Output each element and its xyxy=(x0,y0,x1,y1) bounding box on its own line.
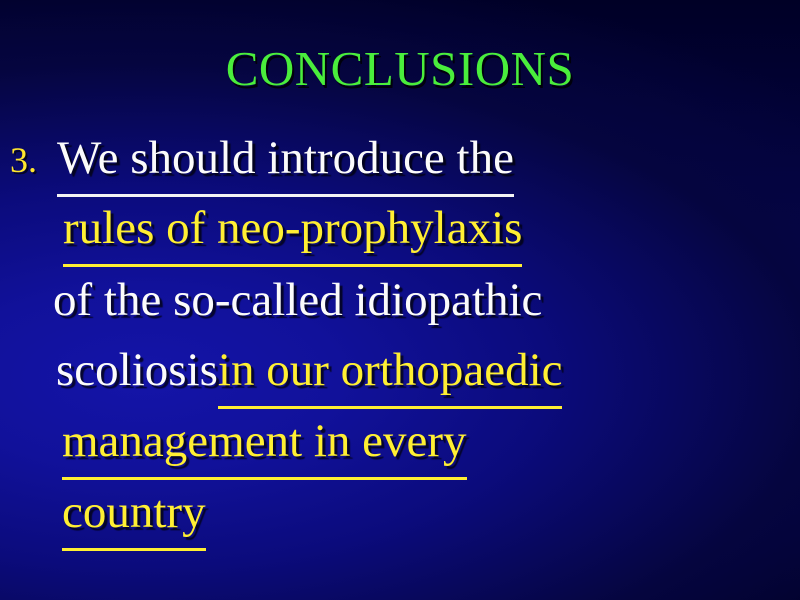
bullet-line-2-text: rules of neo-prophylaxis xyxy=(63,198,522,267)
bullet-line-4-text-emphasis: in our orthopaedic xyxy=(218,340,563,409)
bullet-line-3: of the so-called idiopathic xyxy=(0,270,800,340)
bullet-line-1-text: We should introduce the xyxy=(57,128,514,197)
bullet-line-6: country xyxy=(0,482,800,552)
presentation-slide: CONCLUSIONS 3. We should introduce the r… xyxy=(0,0,800,600)
bullet-line-6-text: country xyxy=(62,482,206,551)
bullet-line-4-text-plain: scoliosis xyxy=(56,340,218,400)
bullet-line-4: scoliosis in our orthopaedic xyxy=(0,340,800,410)
bullet-line-5: management in every xyxy=(0,411,800,481)
bullet-line-1: 3. We should introduce the xyxy=(0,128,800,198)
bullet-line-3-text: of the so-called idiopathic xyxy=(53,270,542,330)
bullet-line-2: rules of neo-prophylaxis xyxy=(0,198,800,268)
bullet-marker: 3. xyxy=(10,134,37,186)
slide-body: 3. We should introduce the rules of neo-… xyxy=(0,128,800,558)
bullet-line-5-text: management in every xyxy=(62,411,467,480)
slide-title: CONCLUSIONS xyxy=(0,44,800,93)
